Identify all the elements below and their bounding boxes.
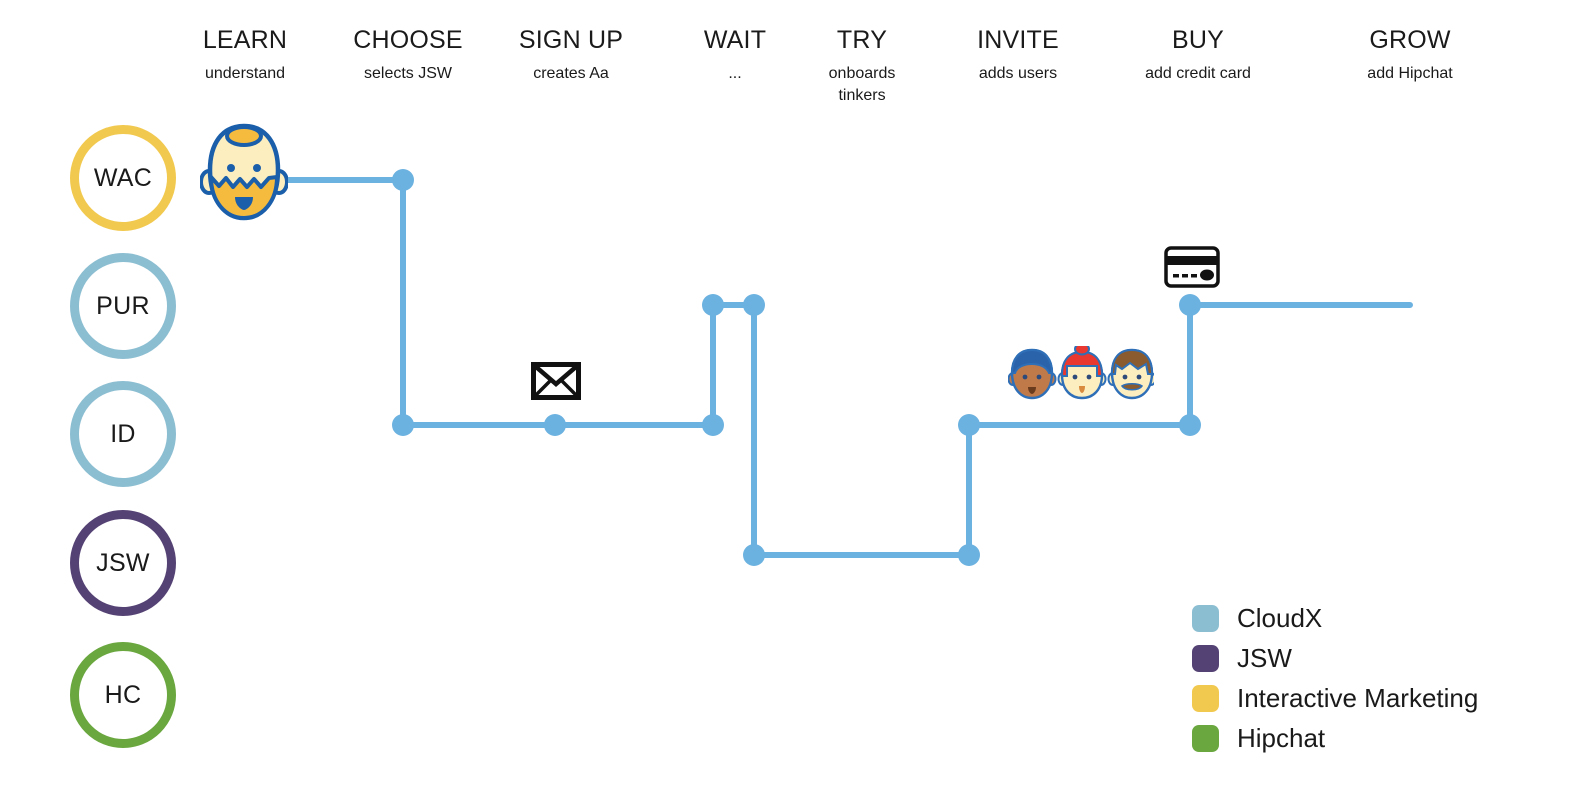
flow-node-n1[interactable] bbox=[392, 169, 414, 191]
flow-path bbox=[282, 180, 1410, 555]
legend-item-interactive-marketing[interactable]: Interactive Marketing bbox=[1192, 678, 1478, 718]
flow-node-n3[interactable] bbox=[544, 414, 566, 436]
legend: CloudXJSWInteractive MarketingHipchat bbox=[1192, 598, 1478, 758]
journey-map-canvas: LEARNunderstandCHOOSEselects JSWSIGN UPc… bbox=[0, 0, 1586, 792]
legend-label: JSW bbox=[1237, 643, 1292, 674]
invited-user-avatar-1 bbox=[1009, 350, 1056, 398]
credit-card-icon bbox=[1164, 246, 1220, 293]
flow-node-n2[interactable] bbox=[392, 414, 414, 436]
flow-node-n10[interactable] bbox=[1179, 414, 1201, 436]
envelope-icon bbox=[531, 362, 581, 405]
invited-user-avatar-2 bbox=[1059, 346, 1106, 398]
legend-label: Hipchat bbox=[1237, 723, 1325, 754]
flow-node-n9[interactable] bbox=[958, 414, 980, 436]
legend-color-swatch bbox=[1192, 645, 1219, 672]
legend-item-jsw[interactable]: JSW bbox=[1192, 638, 1478, 678]
invited-user-avatar-3 bbox=[1109, 350, 1155, 398]
bearded-user-avatar bbox=[200, 120, 288, 233]
legend-item-cloudx[interactable]: CloudX bbox=[1192, 598, 1478, 638]
legend-color-swatch bbox=[1192, 685, 1219, 712]
invited-users-avatars bbox=[1008, 346, 1154, 407]
legend-color-swatch bbox=[1192, 725, 1219, 752]
flow-node-n4[interactable] bbox=[702, 414, 724, 436]
legend-label: CloudX bbox=[1237, 603, 1322, 634]
flow-node-n6[interactable] bbox=[743, 294, 765, 316]
flow-node-n11[interactable] bbox=[1179, 294, 1201, 316]
legend-item-hipchat[interactable]: Hipchat bbox=[1192, 718, 1478, 758]
legend-label: Interactive Marketing bbox=[1237, 683, 1478, 714]
legend-color-swatch bbox=[1192, 605, 1219, 632]
flow-node-n7[interactable] bbox=[743, 544, 765, 566]
flow-node-n5[interactable] bbox=[702, 294, 724, 316]
flow-node-n8[interactable] bbox=[958, 544, 980, 566]
